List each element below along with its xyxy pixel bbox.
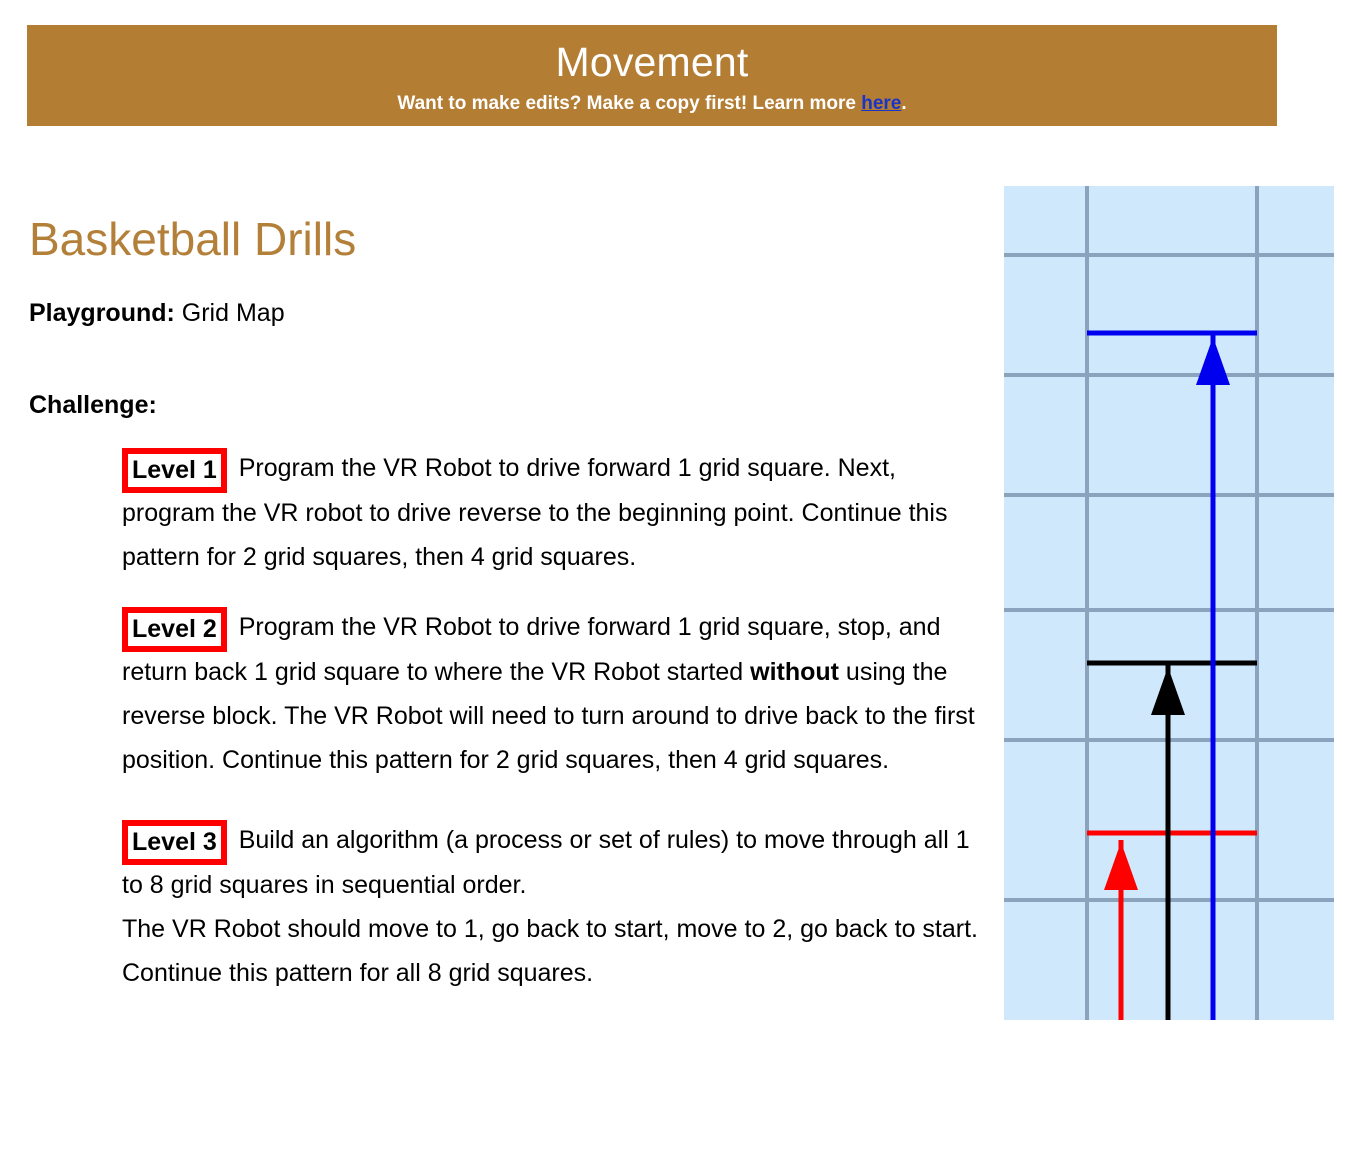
copy-notice-banner: Movement Want to make edits? Make a copy…	[27, 25, 1277, 126]
grid-map-svg	[1004, 186, 1334, 1020]
level-3-body-line-1: Build an algorithm (a process or set of …	[122, 826, 970, 899]
level-2-item: Level 2 Program the VR Robot to drive fo…	[122, 605, 989, 782]
level-1-body: Program the VR Robot to drive forward 1 …	[122, 454, 947, 571]
challenge-heading: Challenge:	[29, 390, 989, 420]
level-1-tag: Level 1	[122, 448, 227, 493]
level-3-item: Level 3 Build an algorithm (a process or…	[122, 818, 989, 995]
banner-subtitle: Want to make edits? Make a copy first! L…	[27, 86, 1277, 116]
level-2-tag: Level 2	[122, 607, 227, 652]
level-2-body-emphasis: without	[750, 658, 839, 686]
level-1-item: Level 1 Program the VR Robot to drive fo…	[122, 446, 989, 579]
playground-value: Grid Map	[175, 299, 285, 327]
activity-content: Playground: Grid Map Challenge: Level 1 …	[29, 298, 989, 995]
banner-subtitle-period: .	[901, 93, 906, 114]
page-title: Basketball Drills	[29, 211, 356, 267]
level-3-tag: Level 3	[122, 820, 227, 865]
playground-label: Playground:	[29, 299, 175, 327]
banner-title: Movement	[27, 25, 1277, 86]
playground-line: Playground: Grid Map	[29, 298, 989, 328]
banner-subtitle-text: Want to make edits? Make a copy first! L…	[397, 93, 861, 114]
grid-map-figure	[1004, 186, 1334, 1020]
level-3-body-line-2: The VR Robot should move to 1, go back t…	[122, 915, 978, 987]
learn-more-link[interactable]: here	[861, 93, 901, 114]
